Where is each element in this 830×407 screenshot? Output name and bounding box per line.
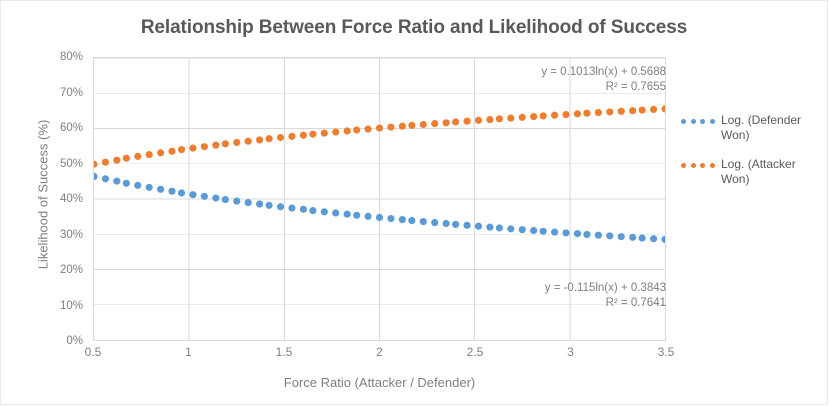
data-point bbox=[595, 232, 602, 239]
y-tick-label: 0% bbox=[66, 335, 83, 347]
data-point bbox=[530, 227, 537, 234]
data-point bbox=[256, 136, 263, 143]
data-point bbox=[606, 108, 613, 115]
legend-label: Log. (Defender Won) bbox=[721, 113, 813, 143]
data-point bbox=[639, 106, 646, 113]
data-point bbox=[364, 213, 371, 220]
data-point bbox=[376, 214, 383, 221]
data-point bbox=[300, 132, 307, 139]
data-point bbox=[300, 206, 307, 213]
data-point bbox=[364, 125, 371, 132]
data-point bbox=[443, 119, 450, 126]
data-point bbox=[288, 204, 295, 211]
data-point bbox=[168, 148, 175, 155]
data-point bbox=[309, 131, 316, 138]
y-tick-label: 80% bbox=[60, 51, 83, 63]
data-point bbox=[321, 208, 328, 215]
data-point bbox=[420, 218, 427, 225]
legend-item-defender-won[interactable]: Log. (Defender Won) bbox=[681, 113, 821, 143]
data-point bbox=[595, 109, 602, 116]
data-point bbox=[606, 232, 613, 239]
y-axis-tick-labels: 0%10%20%30%40%50%60%70%80% bbox=[35, 57, 89, 341]
x-tick-label: 3.5 bbox=[658, 345, 675, 359]
data-point bbox=[629, 107, 636, 114]
data-point bbox=[618, 233, 625, 240]
data-point bbox=[530, 113, 537, 120]
data-point bbox=[266, 202, 273, 209]
data-point bbox=[540, 228, 547, 235]
data-point bbox=[574, 110, 581, 117]
legend-label: Log. (Attacker Won) bbox=[721, 157, 813, 187]
chart-legend: Log. (Defender Won)Log. (Attacker Won) bbox=[681, 113, 821, 201]
data-point bbox=[157, 186, 164, 193]
data-point bbox=[387, 215, 394, 222]
data-point bbox=[277, 203, 284, 210]
y-tick-label: 70% bbox=[60, 87, 83, 99]
data-point bbox=[134, 182, 141, 189]
data-point bbox=[475, 117, 482, 124]
data-point bbox=[189, 191, 196, 198]
y-tick-label: 30% bbox=[60, 229, 83, 241]
legend-marker-dots-icon bbox=[681, 158, 715, 172]
y-tick-label: 20% bbox=[60, 264, 83, 276]
data-point bbox=[629, 234, 636, 241]
data-point bbox=[178, 189, 185, 196]
data-point bbox=[146, 151, 153, 158]
data-point bbox=[463, 222, 470, 229]
data-point bbox=[639, 234, 646, 241]
data-point bbox=[288, 133, 295, 140]
data-point bbox=[157, 149, 164, 156]
chart-title: Relationship Between Force Ratio and Lik… bbox=[1, 17, 827, 39]
data-point bbox=[146, 184, 153, 191]
data-point bbox=[431, 120, 438, 127]
data-point bbox=[475, 223, 482, 230]
data-point bbox=[562, 229, 569, 236]
data-point bbox=[266, 135, 273, 142]
legend-marker-dots-icon bbox=[681, 114, 715, 128]
data-point bbox=[408, 122, 415, 129]
data-point bbox=[650, 106, 657, 113]
data-point bbox=[321, 130, 328, 137]
data-point bbox=[496, 115, 503, 122]
annotation-attacker-r-squared: R² = 0.7655 bbox=[411, 80, 666, 95]
data-point bbox=[123, 180, 130, 187]
data-point bbox=[583, 110, 590, 117]
data-point bbox=[420, 121, 427, 128]
x-axis-tick-labels: 0.511.522.533.5 bbox=[93, 345, 666, 365]
data-point bbox=[574, 230, 581, 237]
data-point bbox=[168, 188, 175, 195]
legend-item-attacker-won[interactable]: Log. (Attacker Won) bbox=[681, 157, 821, 187]
data-point bbox=[178, 146, 185, 153]
data-point bbox=[113, 157, 120, 164]
data-point bbox=[540, 112, 547, 119]
data-point bbox=[507, 114, 514, 121]
data-point bbox=[353, 212, 360, 219]
data-point bbox=[344, 211, 351, 218]
data-point bbox=[583, 231, 590, 238]
data-point bbox=[189, 145, 196, 152]
data-point bbox=[102, 159, 109, 166]
data-point bbox=[222, 140, 229, 147]
data-point bbox=[256, 200, 263, 207]
data-point bbox=[309, 207, 316, 214]
y-tick-label: 10% bbox=[60, 300, 83, 312]
data-point bbox=[486, 224, 493, 231]
data-point bbox=[519, 114, 526, 121]
y-tick-label: 60% bbox=[60, 122, 83, 134]
data-point bbox=[222, 196, 229, 203]
x-tick-label: 2.5 bbox=[467, 345, 484, 359]
data-point bbox=[201, 193, 208, 200]
data-point bbox=[387, 124, 394, 131]
data-point bbox=[486, 116, 493, 123]
data-point bbox=[431, 219, 438, 226]
data-point bbox=[94, 173, 98, 180]
data-point bbox=[344, 127, 351, 134]
data-point bbox=[661, 105, 665, 112]
annotation-defender-equation: y = -0.115ln(x) + 0.3843 bbox=[411, 281, 666, 296]
data-point bbox=[212, 194, 219, 201]
data-point bbox=[245, 138, 252, 145]
data-point bbox=[102, 175, 109, 182]
annotation-attacker-equation: y = 0.1013ln(x) + 0.5688 bbox=[411, 65, 666, 80]
data-point bbox=[113, 178, 120, 185]
data-point bbox=[463, 118, 470, 125]
x-tick-label: 2 bbox=[376, 345, 383, 359]
data-point bbox=[551, 112, 558, 119]
data-point bbox=[123, 155, 130, 162]
data-point bbox=[94, 161, 98, 168]
annotation-defender-r-squared: R² = 0.7641 bbox=[411, 296, 666, 311]
data-point bbox=[277, 134, 284, 141]
data-point bbox=[562, 111, 569, 118]
data-point bbox=[452, 118, 459, 125]
x-tick-label: 3 bbox=[567, 345, 574, 359]
x-tick-label: 0.5 bbox=[85, 345, 102, 359]
data-point bbox=[507, 225, 514, 232]
y-tick-label: 40% bbox=[60, 193, 83, 205]
data-point bbox=[408, 217, 415, 224]
data-point bbox=[201, 143, 208, 150]
data-point bbox=[332, 128, 339, 135]
data-point bbox=[212, 142, 219, 149]
data-point bbox=[661, 236, 665, 243]
data-point bbox=[650, 235, 657, 242]
data-point bbox=[618, 108, 625, 115]
data-point bbox=[245, 199, 252, 206]
data-point bbox=[496, 224, 503, 231]
data-point bbox=[399, 123, 406, 130]
data-point bbox=[134, 153, 141, 160]
data-point bbox=[233, 198, 240, 205]
annotation-defender-trendline: y = -0.115ln(x) + 0.3843 R² = 0.7641 bbox=[411, 281, 666, 311]
data-point bbox=[332, 209, 339, 216]
data-point bbox=[353, 126, 360, 133]
data-point bbox=[399, 216, 406, 223]
data-point bbox=[233, 139, 240, 146]
data-point bbox=[443, 220, 450, 227]
x-tick-label: 1.5 bbox=[276, 345, 293, 359]
x-axis-title: Force Ratio (Attacker / Defender) bbox=[93, 375, 666, 390]
y-tick-label: 50% bbox=[60, 158, 83, 170]
annotation-attacker-trendline: y = 0.1013ln(x) + 0.5688 R² = 0.7655 bbox=[411, 65, 666, 95]
data-point bbox=[519, 226, 526, 233]
data-point bbox=[376, 124, 383, 131]
chart-container: Relationship Between Force Ratio and Lik… bbox=[0, 0, 828, 405]
x-tick-label: 1 bbox=[185, 345, 192, 359]
data-point bbox=[452, 221, 459, 228]
data-point bbox=[551, 229, 558, 236]
